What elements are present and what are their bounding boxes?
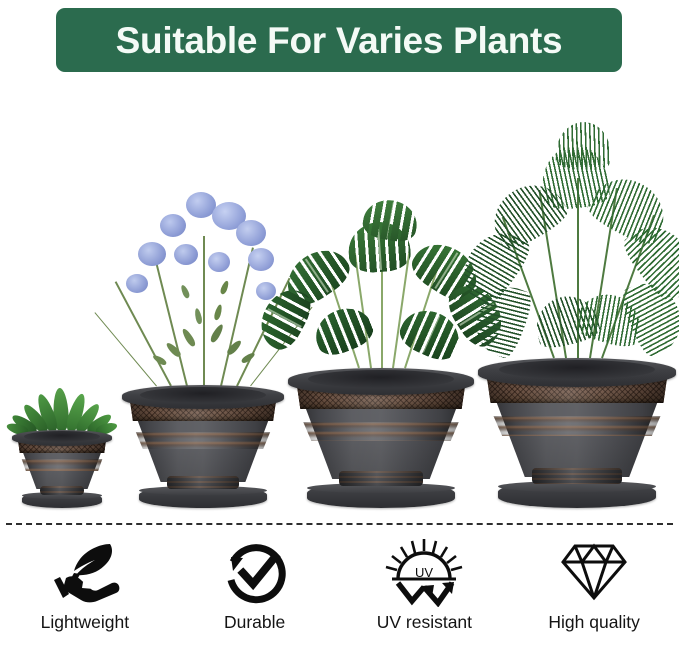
- pot-group-1: [12, 426, 112, 508]
- pot-opening: [499, 360, 655, 379]
- plant-monstera: [266, 168, 496, 368]
- pot-foot: [40, 486, 84, 495]
- flower-cluster: [138, 242, 166, 266]
- product-infographic: Suitable For Varies Plants: [0, 0, 679, 655]
- planter-pot-1: [12, 426, 112, 508]
- circular-arrow-checkmark-icon: [205, 534, 305, 610]
- feature-label: Lightweight: [41, 613, 130, 632]
- flower-cluster: [126, 274, 148, 293]
- feature-label: UV resistant: [377, 613, 472, 632]
- diamond-icon: [544, 534, 644, 610]
- uv-icon-text: UV: [415, 565, 433, 580]
- feature-label: High quality: [548, 613, 639, 632]
- sun-uv-deflect-icon: UV: [374, 534, 474, 610]
- page-title: Suitable For Varies Plants: [116, 22, 563, 59]
- flower-cluster: [160, 214, 186, 237]
- feature-durable: Durable: [170, 534, 340, 632]
- pot-copper-stripes: [300, 422, 462, 441]
- flower-cluster: [208, 252, 230, 272]
- plant-areca-palm: [467, 108, 679, 358]
- pot-group-4: [478, 352, 676, 508]
- pot-opening: [140, 387, 266, 403]
- pot-copper-stripes: [490, 416, 664, 436]
- hand-holding-feather-icon: [35, 534, 135, 610]
- pot-foot: [532, 468, 622, 484]
- pot-opening: [308, 370, 454, 388]
- planter-pot-3: [288, 362, 474, 508]
- feature-label: Durable: [224, 613, 285, 632]
- pot-opening: [24, 431, 100, 442]
- feature-high-quality: High quality: [509, 534, 679, 632]
- planter-pot-4: [478, 352, 676, 508]
- pot-copper-stripes: [133, 432, 273, 449]
- planter-pot-2: [122, 380, 284, 508]
- flower-cluster: [174, 244, 198, 265]
- pot-copper-stripes: [20, 459, 104, 471]
- section-divider: [6, 523, 673, 525]
- feature-uv-resistant: UV UV resistant: [340, 534, 510, 632]
- pot-group-2: [122, 380, 284, 508]
- product-scene: [0, 78, 679, 518]
- header-banner: Suitable For Varies Plants: [56, 8, 622, 72]
- pot-foot: [167, 476, 239, 489]
- pot-group-3: [288, 362, 474, 508]
- plant-broadleaf: [2, 348, 122, 432]
- feature-lightweight: Lightweight: [0, 534, 170, 632]
- palm-frond: [555, 120, 612, 172]
- feature-row: Lightweight Durable: [0, 534, 679, 652]
- flower-cluster: [236, 220, 266, 246]
- pot-foot: [339, 471, 423, 486]
